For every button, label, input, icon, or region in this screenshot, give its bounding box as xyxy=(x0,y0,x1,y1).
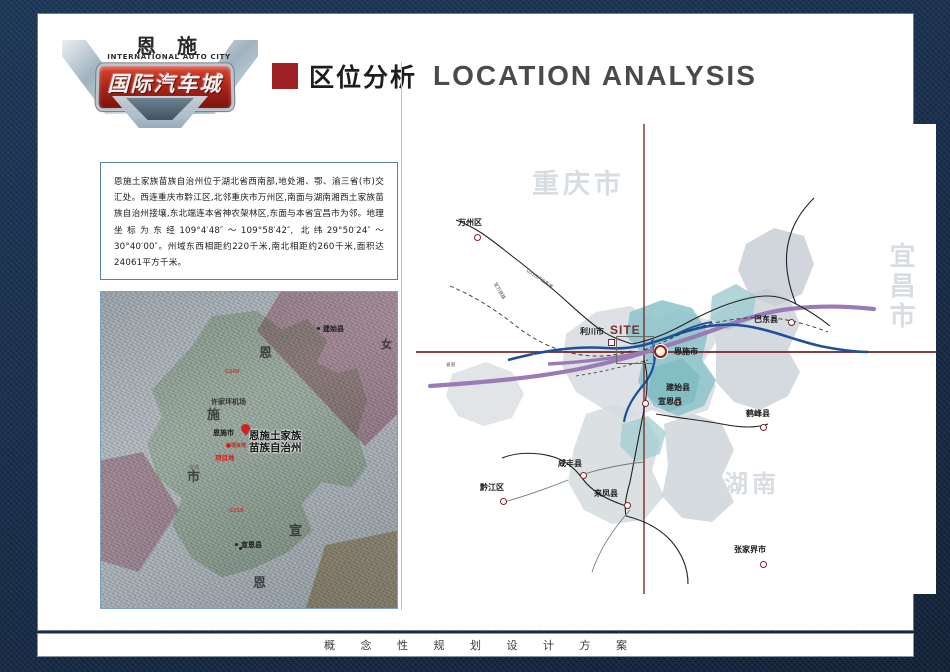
site-highlight-box xyxy=(616,336,654,364)
footer-strip: 概 念 性 规 划 设 计 方 案 xyxy=(38,634,913,656)
description-box: 恩施土家族苗族自治州位于湖北省西南部,地处湘、鄂、渝三省(市)交汇处。西连重庆市… xyxy=(100,162,398,280)
city-node-wanzhou[interactable] xyxy=(474,234,481,241)
city-label-enshi: 恩施市 xyxy=(674,346,698,357)
terrain-bigchar-1: 恩 xyxy=(259,342,272,361)
city-node-zhangjiajie[interactable] xyxy=(760,561,767,568)
terrain-prefecture-name-line1: 恩施土家族 xyxy=(249,430,302,442)
city-node-lichuan[interactable] xyxy=(608,339,615,346)
city-label-qianjiang: 黔江区 xyxy=(480,482,504,493)
city-node-enshi[interactable] xyxy=(654,345,667,358)
regional-location-map[interactable]: 重庆市 宜昌市 湖南 万州区 利川市 建始县 巴东县 恩施市 宣恩县 鹤峰县 咸… xyxy=(416,124,936,594)
terrain-dot-extra xyxy=(239,547,242,550)
city-node-hefeng[interactable] xyxy=(760,424,767,431)
description-text: 恩施土家族苗族自治州位于湖北省西南部,地处湘、鄂、渝三省(市)交汇处。西连重庆市… xyxy=(114,174,384,271)
terrain-label-site-small: 项目地 xyxy=(231,442,246,449)
city-node-laifeng[interactable] xyxy=(624,502,631,509)
terrain-dot-jianshi xyxy=(317,327,320,330)
logo-english-tagline: INTERNATIONAL AUTO CITY xyxy=(95,53,244,61)
page-title: 区位分析 LOCATION ANALYSIS xyxy=(272,58,757,94)
site-label: SITE xyxy=(610,323,641,337)
city-label-xuanen: 宣恩县 xyxy=(658,396,682,407)
city-node-badong[interactable] xyxy=(788,319,795,326)
terrain-dot-xuanen xyxy=(235,543,238,546)
column-divider xyxy=(401,62,402,610)
city-label-badong: 巴东县 xyxy=(754,314,778,325)
terrain-bigchar-4: 宣 xyxy=(289,520,302,539)
terrain-bigchar-5: 恩 xyxy=(253,572,266,591)
watermark-hunan: 湖南 xyxy=(724,464,780,499)
terrain-road-g50: G50 xyxy=(335,412,346,418)
road-label-g50: G50沪渝高速 xyxy=(532,354,560,360)
project-site-label: 项目地 xyxy=(215,452,235,462)
city-label-zhangjiajie: 张家界市 xyxy=(734,544,766,555)
terrain-label-xuanen: 宣恩县 xyxy=(241,540,262,550)
city-label-jianshi: 建始县 xyxy=(666,382,690,393)
city-label-laifeng: 来凤县 xyxy=(594,488,618,499)
poster-page: 恩 施 INTERNATIONAL AUTO CITY 国际汽车城 区位分析 L… xyxy=(0,0,950,672)
page-title-en: LOCATION ANALYSIS xyxy=(433,60,757,92)
city-node-xianfeng[interactable] xyxy=(580,472,587,479)
city-label-lichuan: 利川市 xyxy=(580,326,604,337)
road-label-provincial: 省道 xyxy=(446,362,455,368)
terrain-bigchar-6: 女 xyxy=(381,336,392,352)
terrain-label-jianshi: 建始县 xyxy=(323,324,344,334)
terrain-road-misc: 省道 xyxy=(189,464,199,471)
city-label-wanzhou: 万州区 xyxy=(458,217,482,228)
title-square-marker xyxy=(272,63,298,89)
satellite-terrain-map[interactable]: 恩 施 市 宣 恩 女 建始县 恩施市 许家坪机场 宣恩县 恩施土家族 苗族自治… xyxy=(100,291,398,609)
regional-map-vector xyxy=(416,124,936,594)
city-node-qianjiang[interactable] xyxy=(500,498,507,505)
terrain-road-g318: G318 xyxy=(229,508,244,514)
terrain-road-g209: G209 xyxy=(225,369,240,375)
terrain-label-enshi-city: 恩施市 xyxy=(213,428,234,438)
city-node-xuanen[interactable] xyxy=(642,400,649,407)
watermark-yichang: 宜昌市 xyxy=(882,242,919,332)
city-label-xianfeng: 咸丰县 xyxy=(558,458,582,469)
terrain-prefecture-name-line2: 苗族自治州 xyxy=(249,442,302,454)
poster-sheet: 恩 施 INTERNATIONAL AUTO CITY 国际汽车城 区位分析 L… xyxy=(38,14,913,630)
footer-text: 概 念 性 规 划 设 计 方 案 xyxy=(38,634,913,656)
brand-logo: 恩 施 INTERNATIONAL AUTO CITY 国际汽车城 xyxy=(68,30,253,130)
city-label-hefeng: 鹤峰县 xyxy=(746,408,770,419)
terrain-label-airport: 许家坪机场 xyxy=(211,397,246,407)
watermark-chongqing: 重庆市 xyxy=(532,162,625,201)
